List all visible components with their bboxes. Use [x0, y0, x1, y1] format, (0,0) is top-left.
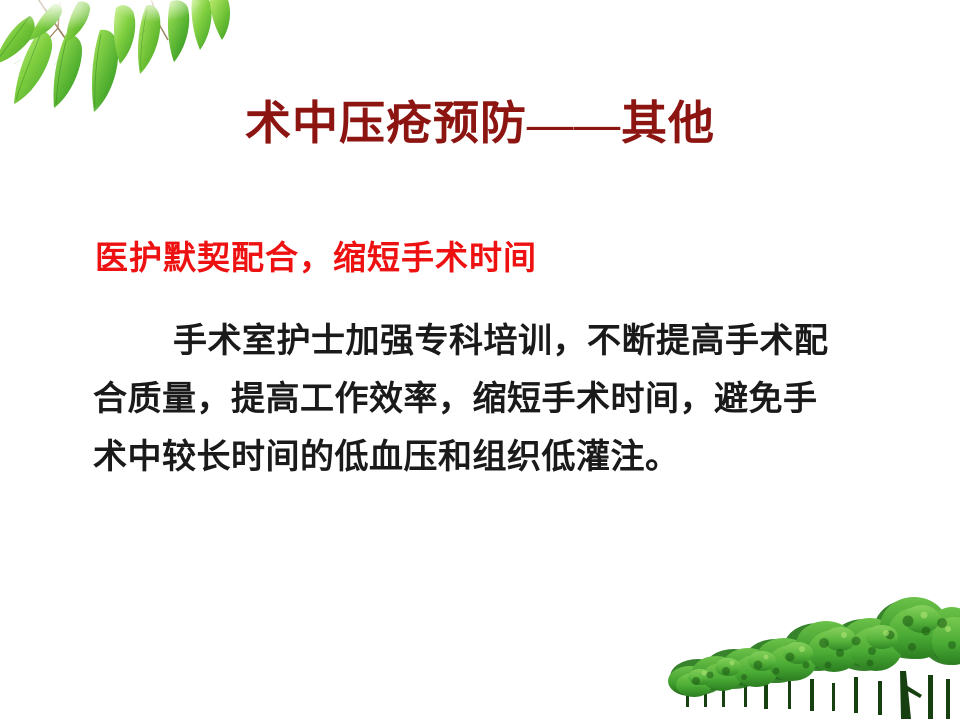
green-trees-image	[660, 585, 960, 720]
body-line: 合质量，提高工作效率，缩短手术时间，避免手	[93, 370, 903, 428]
body-paragraph: 手术室护士加强专科培训，不断提高手术配 合质量，提高工作效率，缩短手术时间，避免…	[93, 312, 903, 486]
slide-title: 术中压疮预防——其他	[0, 98, 960, 150]
body-line: 术中较长时间的低血压和组织低灌注。	[93, 428, 903, 486]
presentation-slide: 术中压疮预防——其他 医护默契配合，缩短手术时间 手术室护士加强专科培训，不断提…	[0, 0, 960, 720]
body-line: 手术室护士加强专科培训，不断提高手术配	[93, 312, 903, 370]
section-subtitle: 医护默契配合，缩短手术时间	[95, 238, 537, 278]
